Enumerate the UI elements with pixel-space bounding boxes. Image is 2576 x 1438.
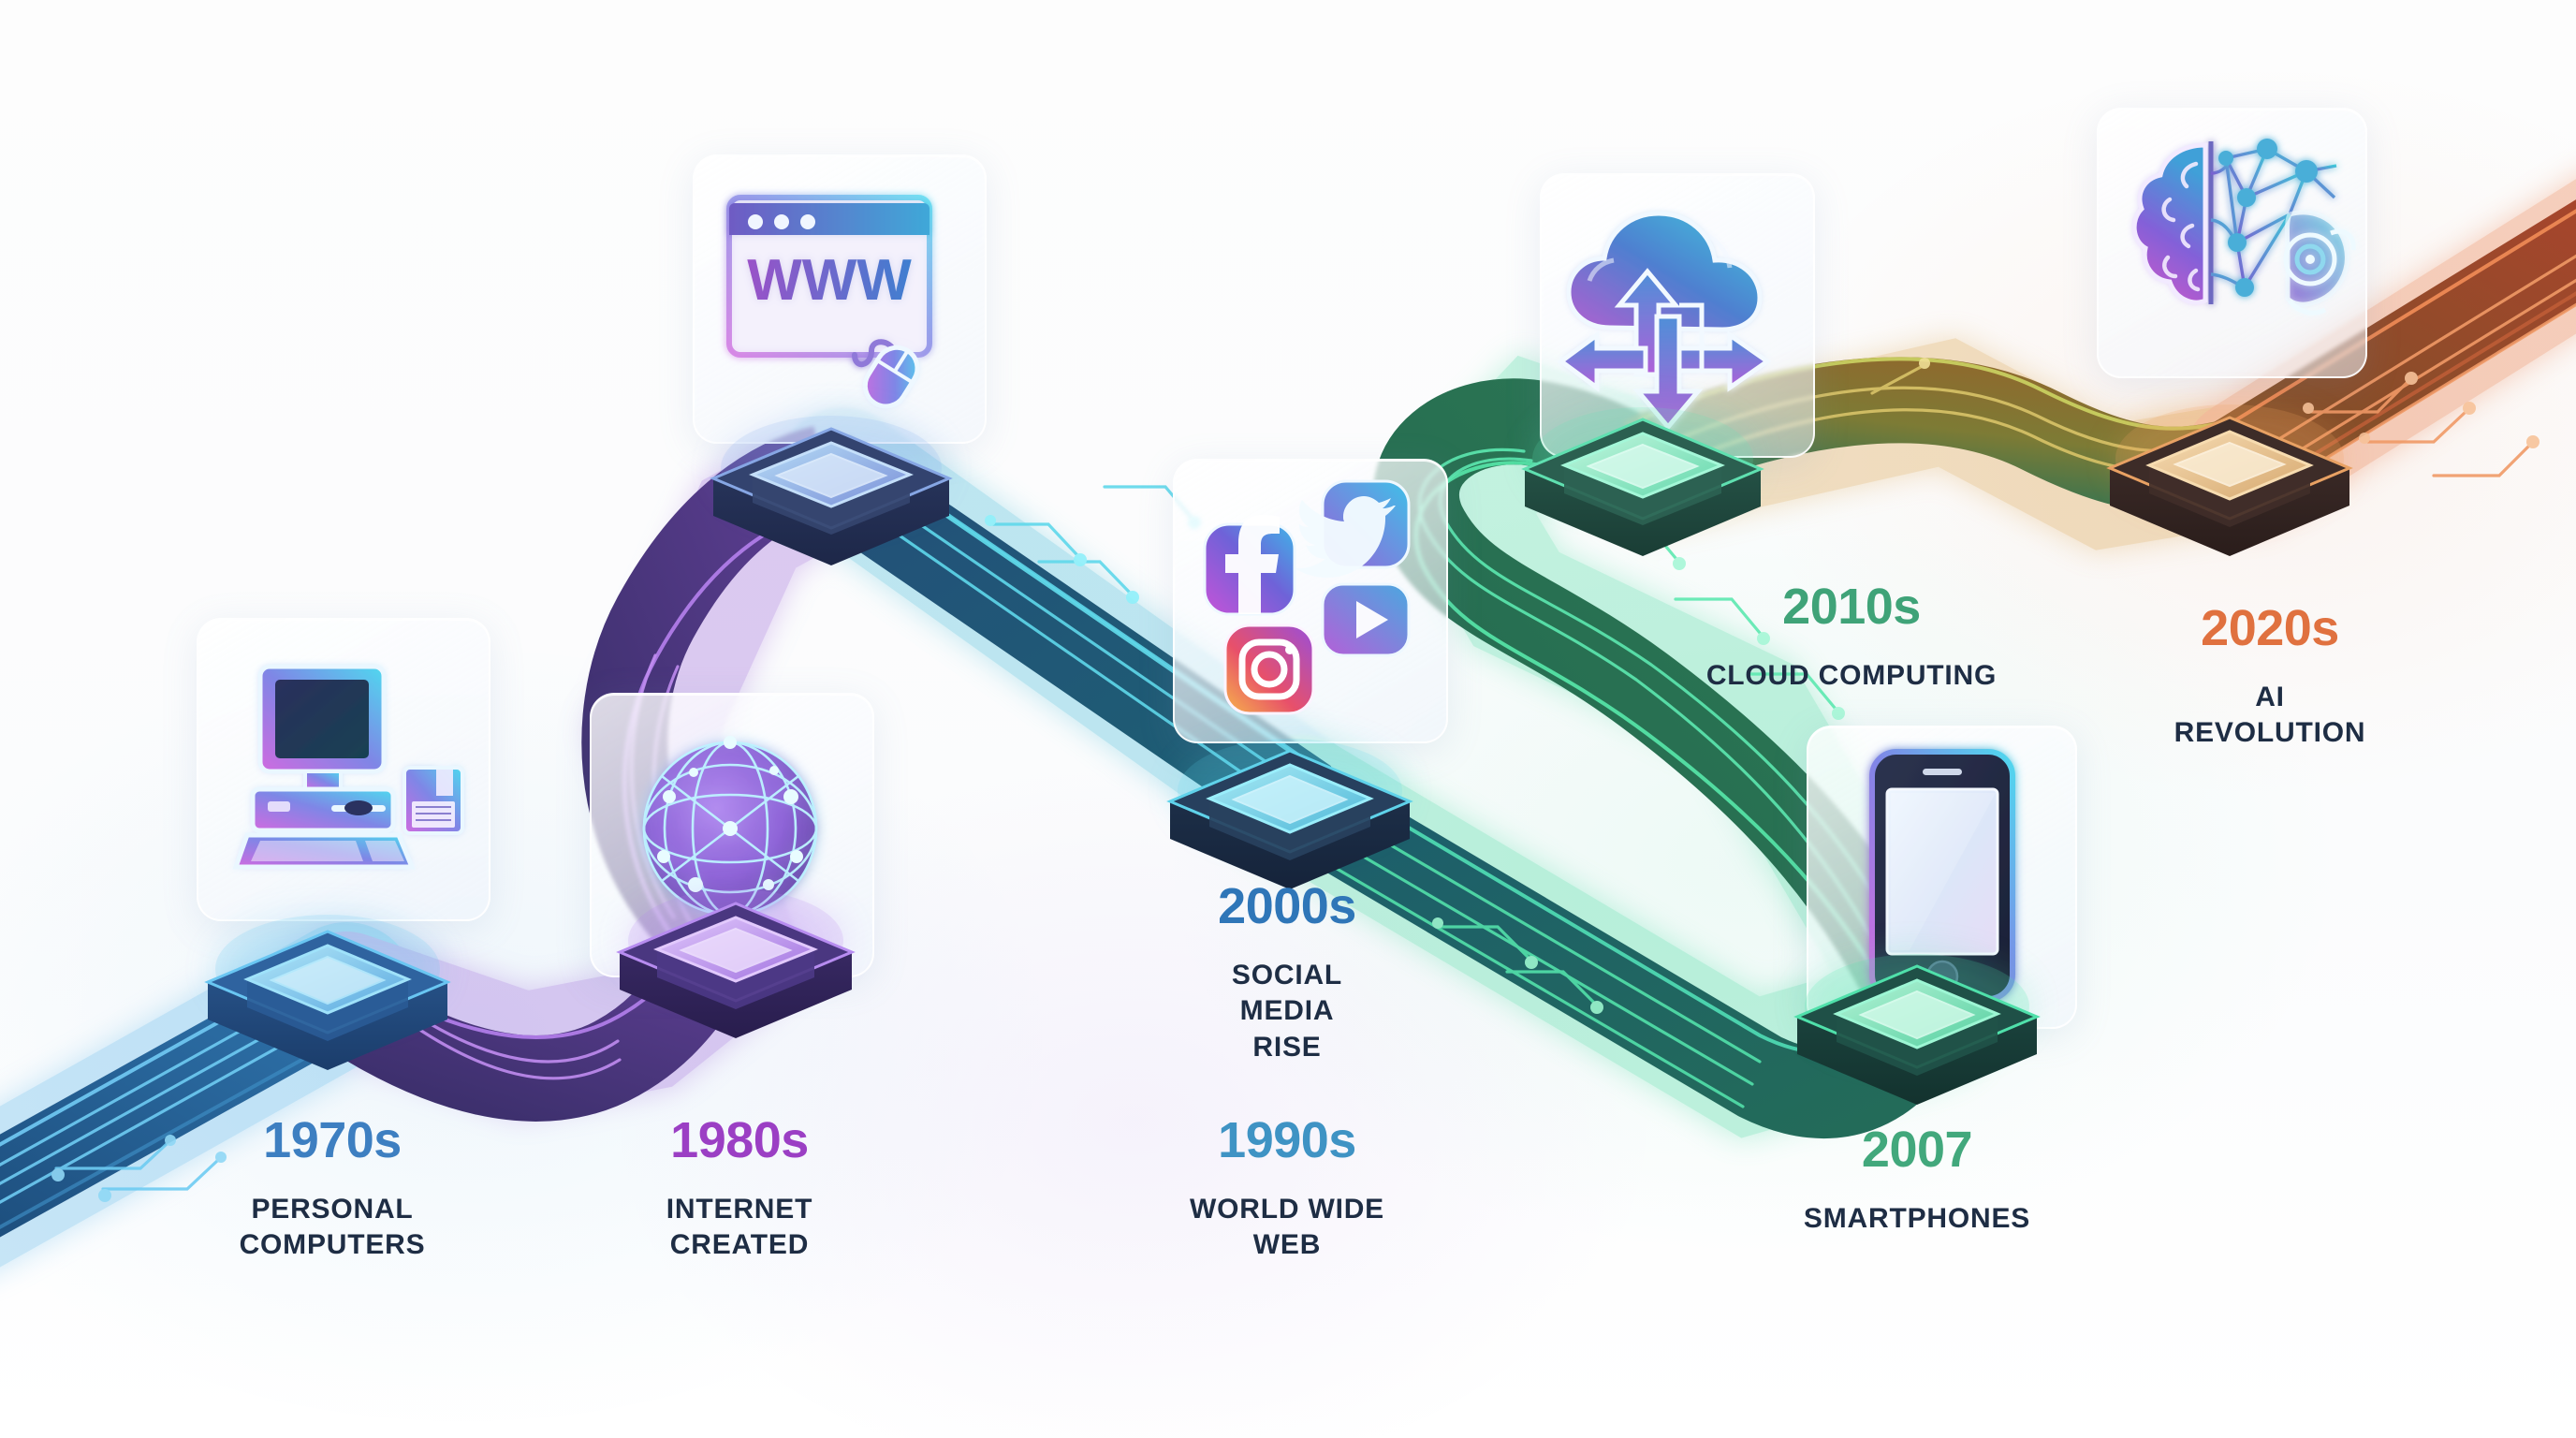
era-1970s: 1970s	[145, 1115, 520, 1166]
label-ai-revolution: 2020s AI REVOLUTION	[2083, 588, 2457, 767]
node-personal-computers	[208, 915, 447, 1070]
desc-social-media-rise: SOCIAL MEDIA RISE	[1100, 958, 1474, 1065]
era-1980s: 1980s	[552, 1115, 927, 1166]
label-world-wide-web: 1990s WORLD WIDE WEB	[1100, 1100, 1474, 1279]
node-cloud-computing	[1525, 407, 1761, 556]
label-internet-created: 1980s INTERNET CREATED	[552, 1100, 927, 1279]
era-2007: 2007	[1730, 1124, 2104, 1175]
label-cloud-computing: 2010s CLOUD COMPUTING	[1664, 566, 2039, 709]
era-1990s: 1990s	[1100, 1115, 1474, 1166]
infographic-canvas: WWW	[0, 0, 2576, 1438]
era-2000s: 2000s	[1100, 881, 1474, 932]
era-2010s: 2010s	[1664, 581, 2039, 632]
era-2020s: 2020s	[2083, 603, 2457, 653]
desc-ai-revolution: AI REVOLUTION	[2083, 680, 2457, 752]
desc-internet-created: INTERNET CREATED	[552, 1192, 927, 1264]
desc-smartphones: SMARTPHONES	[1730, 1201, 2104, 1237]
label-smartphones: 2007 SMARTPHONES	[1730, 1109, 2104, 1252]
desc-personal-computers: PERSONAL COMPUTERS	[145, 1192, 520, 1264]
node-smartphones	[1797, 954, 2037, 1105]
desc-cloud-computing: CLOUD COMPUTING	[1664, 658, 2039, 694]
desc-world-wide-web: WORLD WIDE WEB	[1100, 1192, 1474, 1264]
node-ai-revolution	[2110, 404, 2349, 556]
label-social-media-rise: 2000s SOCIAL MEDIA RISE	[1100, 866, 1474, 1080]
node-internet-created	[620, 889, 852, 1038]
label-personal-computers: 1970s PERSONAL COMPUTERS	[145, 1100, 520, 1279]
node-world-wide-web	[713, 416, 949, 565]
